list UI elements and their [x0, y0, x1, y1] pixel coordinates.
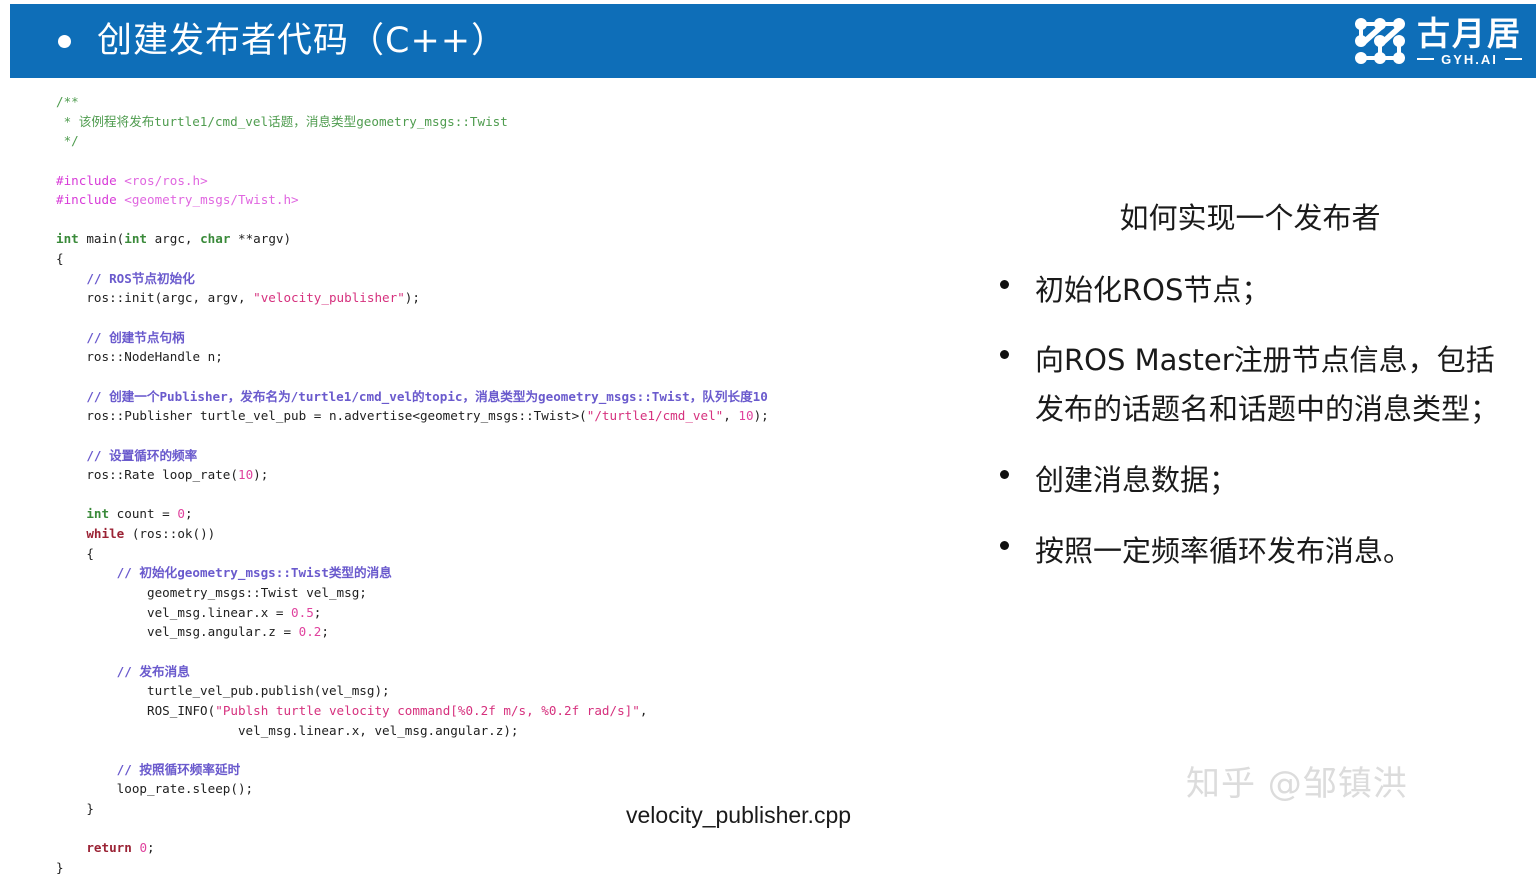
code-line: [56, 151, 996, 171]
code-line: /**: [56, 92, 996, 112]
code-line: ros::NodeHandle n;: [56, 347, 996, 367]
code-line: // 设置循环的频率: [56, 446, 996, 466]
explanation-bullet-list: 初始化ROS节点；向ROS Master注册节点信息，包括发布的话题名和话题中的…: [1000, 266, 1520, 576]
list-item-label: 初始化ROS节点；: [1035, 266, 1270, 315]
code-line: {: [56, 544, 996, 564]
bullet-dot-icon: [1000, 470, 1009, 479]
list-item: 按照一定频率循环发布消息。: [1000, 527, 1520, 576]
brand-logo: 古月居 GYH.AI: [1353, 12, 1522, 70]
list-item: 初始化ROS节点；: [1000, 266, 1520, 315]
list-item-label: 向ROS Master注册节点信息，包括发布的话题名和话题中的消息类型；: [1035, 336, 1520, 433]
code-line: vel_msg.angular.z = 0.2;: [56, 622, 996, 642]
code-line: vel_msg.linear.x = 0.5;: [56, 603, 996, 623]
bullet-dot-icon: [1000, 541, 1009, 550]
explanation-panel: 如何实现一个发布者 初始化ROS节点；向ROS Master注册节点信息，包括发…: [1000, 200, 1520, 597]
logo-rule-right: [1505, 58, 1522, 60]
bullet-dot-icon: [58, 35, 71, 48]
code-line: #include <geometry_msgs/Twist.h>: [56, 190, 996, 210]
list-item: 向ROS Master注册节点信息，包括发布的话题名和话题中的消息类型；: [1000, 336, 1520, 433]
code-line: }: [56, 799, 996, 819]
code-line: return 0;: [56, 838, 996, 858]
code-line: // 发布消息: [56, 662, 996, 682]
list-item-label: 按照一定频率循环发布消息。: [1035, 527, 1412, 576]
code-line: #include <ros/ros.h>: [56, 171, 996, 191]
network-nodes-icon: [1353, 16, 1407, 66]
code-line: ros::Rate loop_rate(10);: [56, 465, 996, 485]
code-line: while (ros::ok()): [56, 524, 996, 544]
code-line: int main(int argc, char **argv): [56, 229, 996, 249]
code-line: geometry_msgs::Twist vel_msg;: [56, 583, 996, 603]
explanation-title: 如何实现一个发布者: [1000, 200, 1520, 238]
page-title: 创建发布者代码（C++）: [97, 24, 507, 59]
code-line: [56, 426, 996, 446]
watermark-text: 知乎 @邹镇洪: [1186, 756, 1408, 805]
code-line: [56, 642, 996, 662]
code-line: // 创建节点句柄: [56, 328, 996, 348]
code-line: ros::init(argc, argv, "velocity_publishe…: [56, 288, 996, 308]
code-line: ROS_INFO("Publsh turtle velocity command…: [56, 701, 996, 721]
list-item: 创建消息数据；: [1000, 456, 1520, 505]
logo-cn-text: 古月居: [1417, 17, 1522, 50]
code-line: [56, 485, 996, 505]
code-line: [56, 210, 996, 230]
code-line: // 初始化geometry_msgs::Twist类型的消息: [56, 563, 996, 583]
code-filename-label: velocity_publisher.cpp: [626, 802, 851, 829]
logo-rule-left: [1417, 58, 1434, 60]
code-line: // ROS节点初始化: [56, 269, 996, 289]
code-line: turtle_vel_pub.publish(vel_msg);: [56, 681, 996, 701]
bullet-dot-icon: [1000, 280, 1009, 289]
code-line: ros::Publisher turtle_vel_pub = n.advert…: [56, 406, 996, 426]
code-line: vel_msg.linear.x, vel_msg.angular.z);: [56, 721, 996, 741]
code-line: [56, 308, 996, 328]
code-line: */: [56, 131, 996, 151]
code-line: [56, 367, 996, 387]
code-line: int count = 0;: [56, 504, 996, 524]
code-line: loop_rate.sleep();: [56, 779, 996, 799]
code-listing: /** * 该例程将发布turtle1/cmd_vel话题，消息类型geomet…: [56, 92, 996, 878]
code-line: [56, 740, 996, 760]
code-line: }: [56, 858, 996, 878]
logo-en-text: GYH.AI: [1441, 53, 1498, 66]
code-line: // 按照循环频率延时: [56, 760, 996, 780]
code-line: {: [56, 249, 996, 269]
code-line: * 该例程将发布turtle1/cmd_vel话题，消息类型geometry_m…: [56, 112, 996, 132]
code-line: [56, 819, 996, 839]
list-item-label: 创建消息数据；: [1035, 456, 1238, 505]
slide-header: 创建发布者代码（C++） 古月居 GYH.AI: [10, 4, 1536, 78]
bullet-dot-icon: [1000, 350, 1009, 359]
code-line: // 创建一个Publisher，发布名为/turtle1/cmd_vel的to…: [56, 387, 996, 407]
